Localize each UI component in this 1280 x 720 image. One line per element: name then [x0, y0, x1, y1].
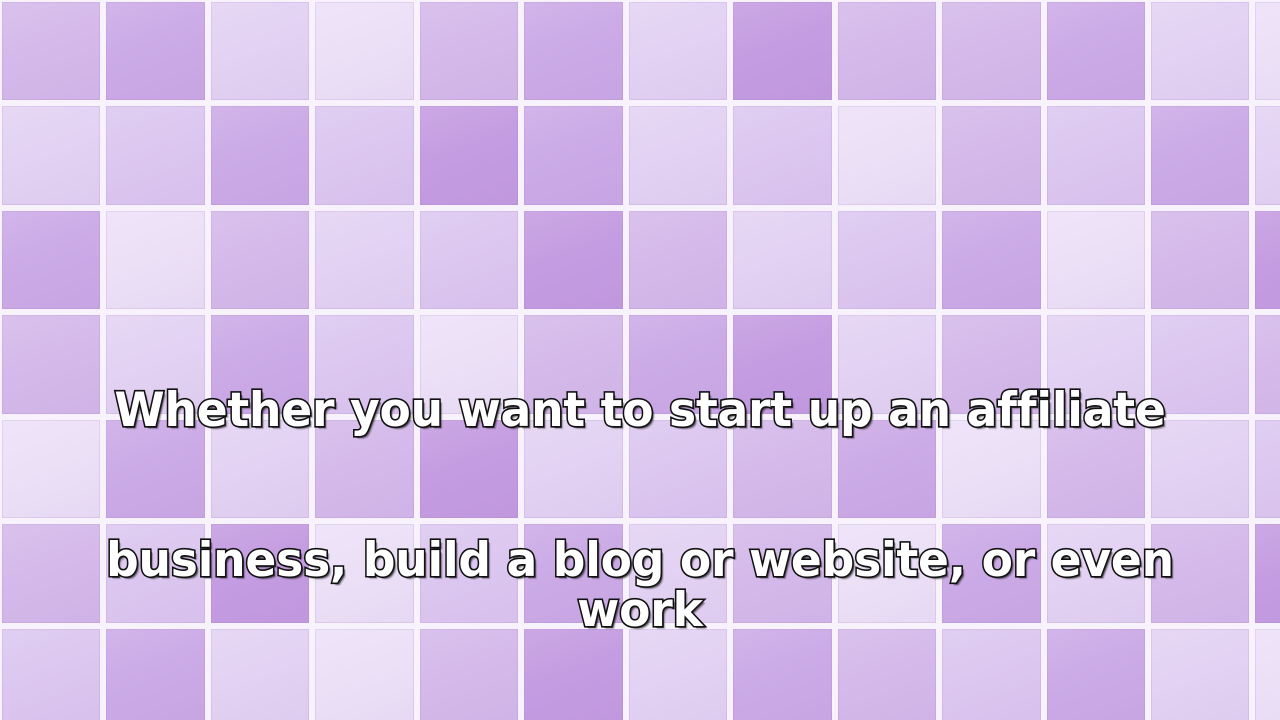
background-tile: [1047, 2, 1145, 100]
background-tile: [1255, 629, 1280, 720]
background-tile: [315, 2, 413, 100]
thumbnail-canvas: Whether you want to start up an affiliat…: [0, 0, 1280, 720]
background-tile: [1255, 420, 1280, 518]
background-tile: [733, 2, 831, 100]
background-tile: [2, 2, 100, 100]
background-tile: [629, 2, 727, 100]
background-tile: [106, 2, 204, 100]
background-tile: [838, 2, 936, 100]
background-tile: [420, 2, 518, 100]
background-tile: [524, 2, 622, 100]
headline-inner: Whether you want to start up an affiliat…: [90, 286, 1191, 720]
background-tile: [1255, 315, 1280, 413]
headline-text-block: Whether you want to start up an affiliat…: [73, 186, 1208, 720]
background-tile: [211, 2, 309, 100]
background-tile: [1255, 106, 1280, 204]
background-tile: [1255, 211, 1280, 309]
headline-line-2: business, build a blog or website, or ev…: [90, 536, 1191, 636]
background-tile: [942, 2, 1040, 100]
background-tile: [1255, 524, 1280, 622]
headline-line-1: Whether you want to start up an affiliat…: [90, 386, 1191, 436]
background-tile: [1151, 2, 1249, 100]
background-tile: [1255, 2, 1280, 100]
